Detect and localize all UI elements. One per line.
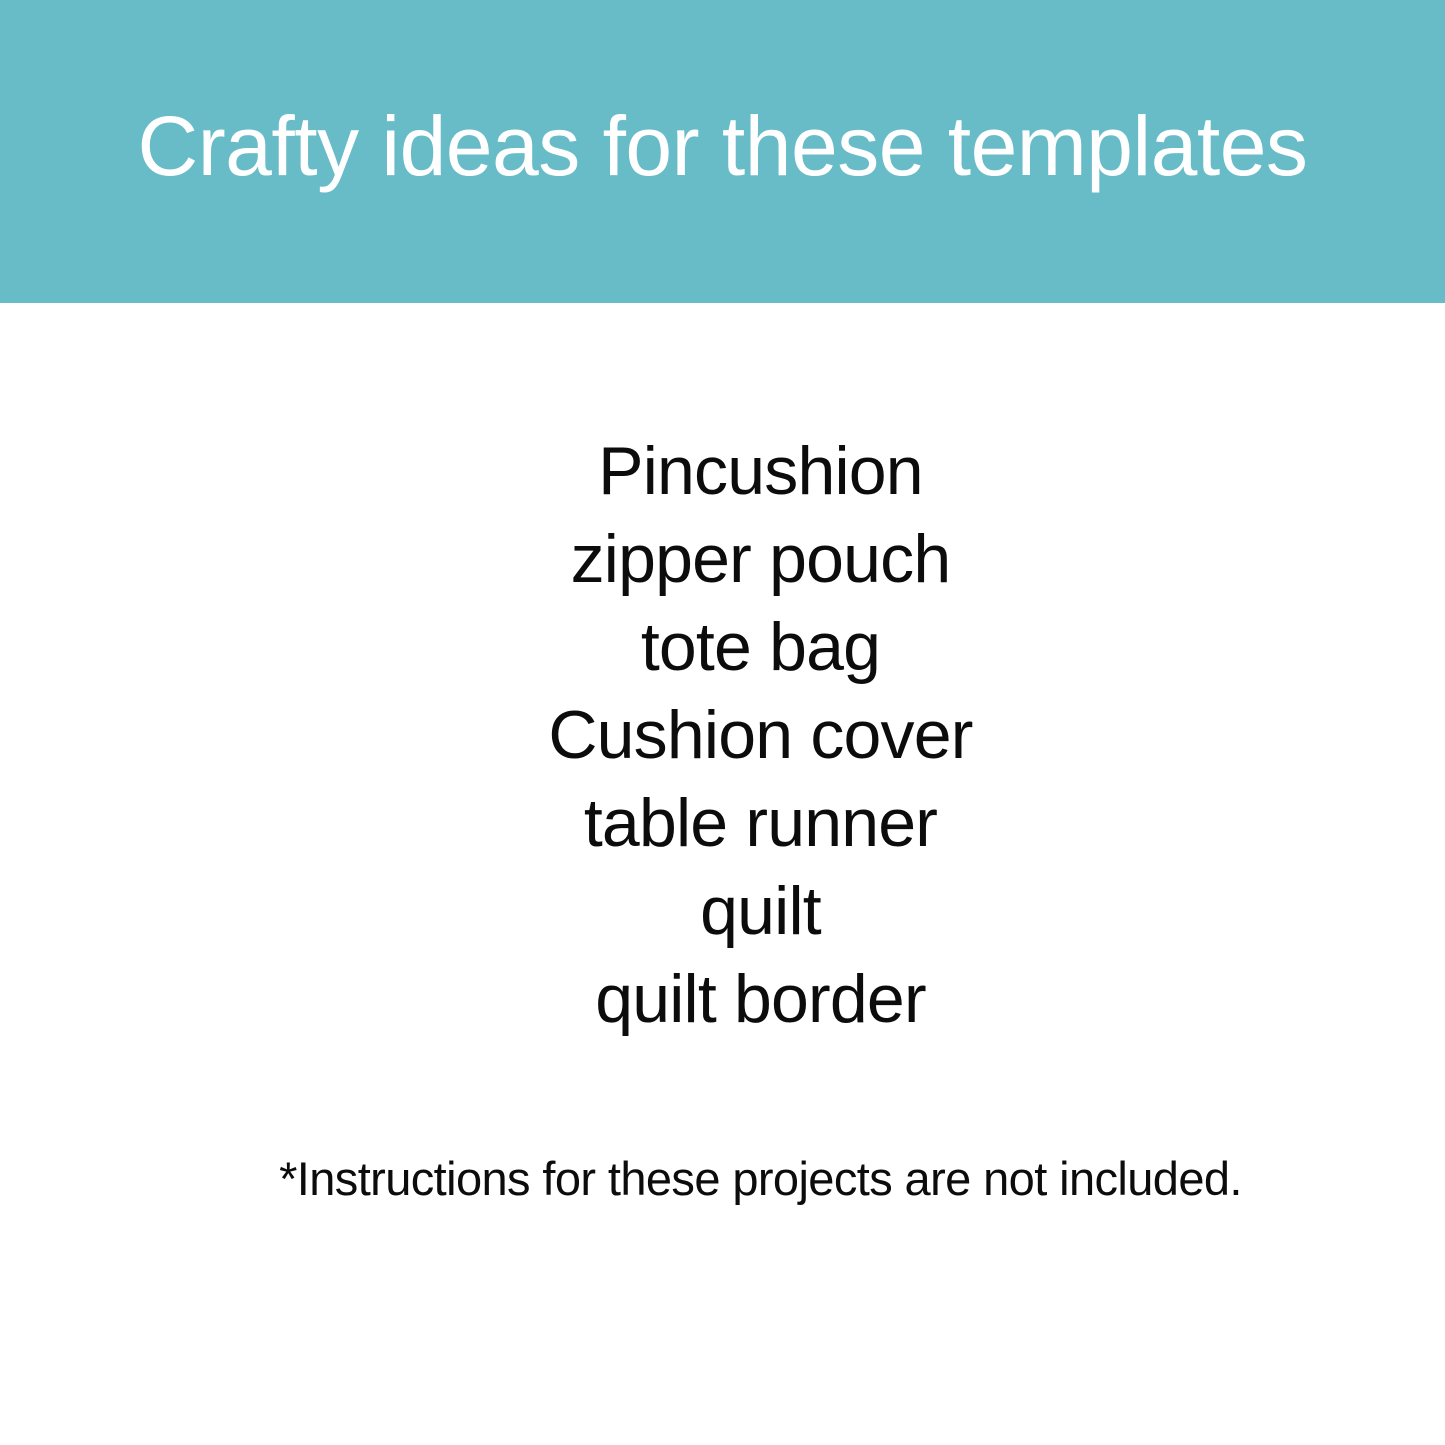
list-item: zipper pouch [76,515,1445,603]
header-banner: Crafty ideas for these templates [0,0,1445,303]
list-item: Cushion cover [76,691,1445,779]
body-area: Pincushion zipper pouch tote bag Cushion… [0,303,1445,1445]
list-item: quilt [76,867,1445,955]
list-item: quilt border [76,955,1445,1043]
list-item: tote bag [76,603,1445,691]
product-info-card: Crafty ideas for these templates Pincush… [0,0,1445,1445]
footnote-disclaimer: *Instructions for these projects are not… [0,1148,1445,1210]
page-title: Crafty ideas for these templates [138,104,1308,188]
ideas-list: Pincushion zipper pouch tote bag Cushion… [0,427,1445,1043]
list-item: Pincushion [76,427,1445,515]
list-item: table runner [76,779,1445,867]
